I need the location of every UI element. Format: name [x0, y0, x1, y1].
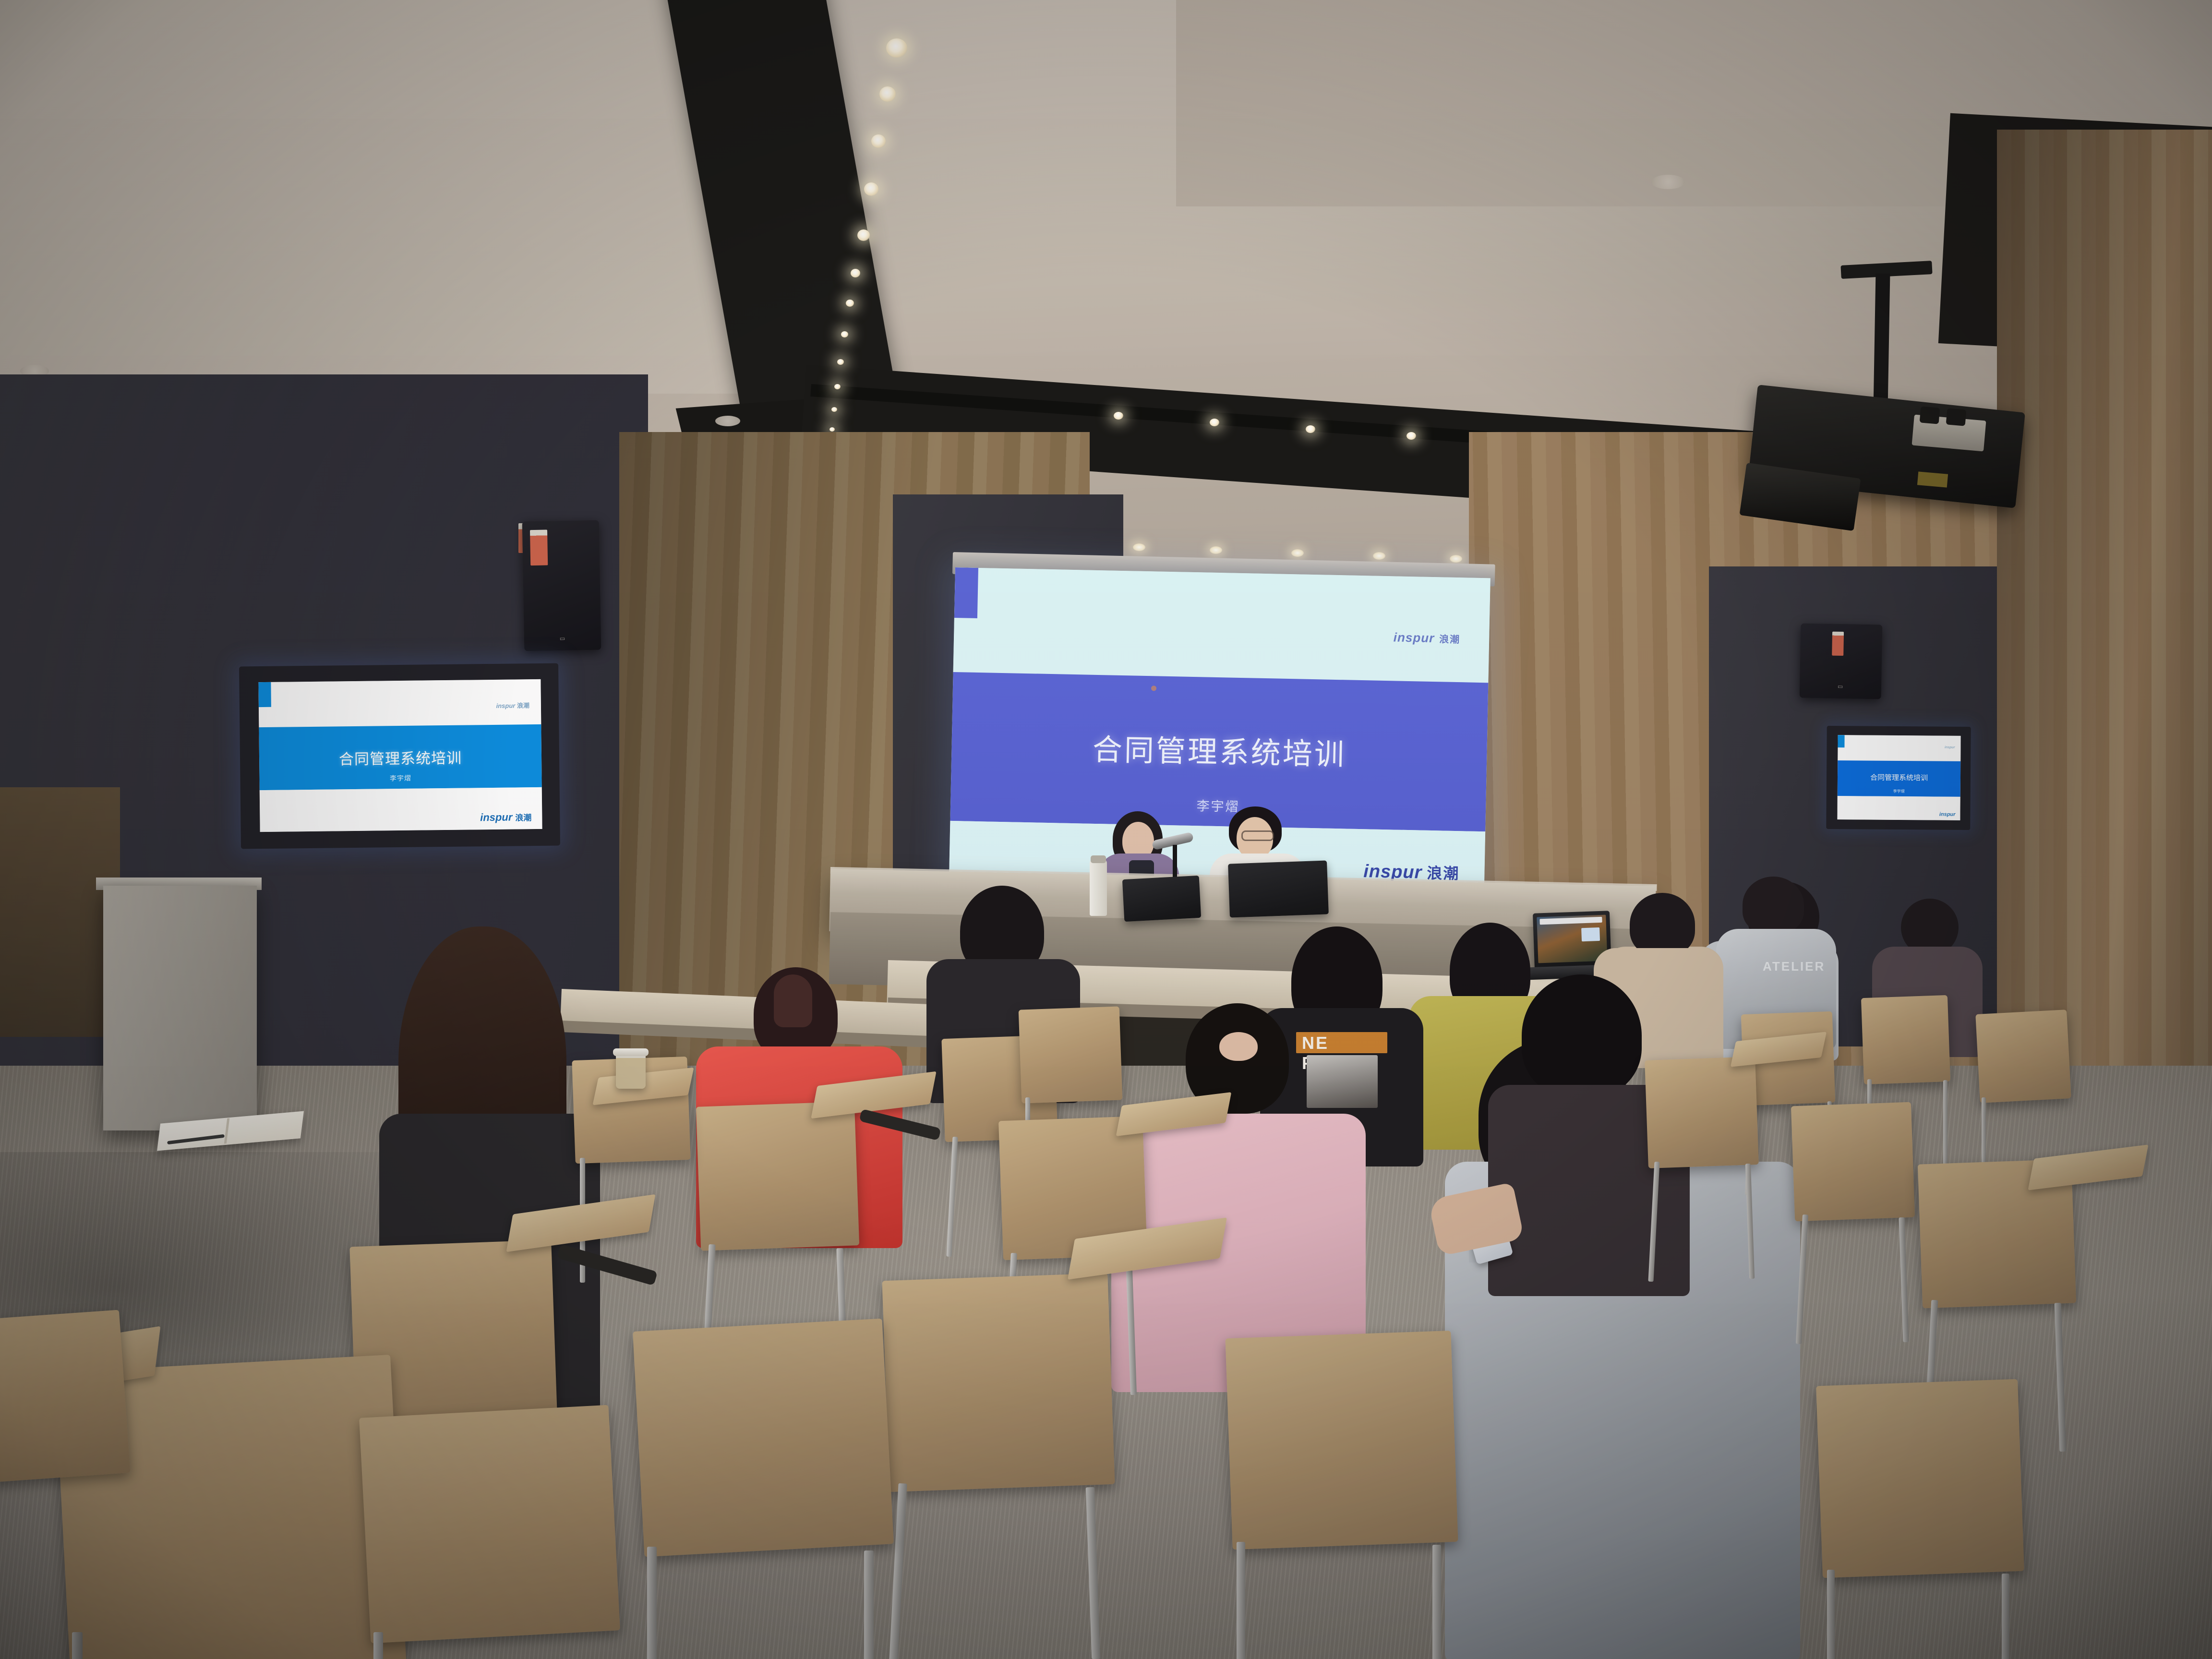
speaker-brand-text: ▭ — [560, 635, 566, 642]
presenter-laptop — [1122, 876, 1201, 922]
ceiling-spotlight — [1114, 412, 1123, 420]
slide-title: 合同管理系统培训 — [259, 745, 541, 769]
speaker-brand-text: ▭ — [1838, 683, 1844, 690]
ceiling-spotlight — [831, 407, 837, 412]
ceiling-fixture — [715, 416, 740, 426]
brand-logo-cn: 浪潮 — [517, 702, 529, 709]
slide-decor-dot — [1151, 685, 1156, 691]
slide-presenter-name: 李宇熠 — [1838, 788, 1960, 794]
main-projection-screen: inspur浪潮 合同管理系统培训 李宇熠 inspur浪潮 — [949, 567, 1491, 895]
brand-logo-latin: inspur — [480, 811, 512, 824]
left-wall-display: inspur 浪潮 合同管理系统培训 李宇熠 inspur浪潮 — [258, 679, 542, 832]
projector-knob — [1946, 408, 1967, 426]
ceiling-spotlight — [886, 38, 907, 58]
speaker-label — [530, 530, 548, 566]
ceiling-spotlight — [834, 384, 841, 389]
wall-speaker-left: ▭ — [522, 520, 601, 651]
brand-logo-bottom: inspur浪潮 — [480, 811, 532, 824]
laptop-dialog — [1581, 927, 1600, 941]
slide-accent-block — [258, 682, 271, 707]
brand-logo-latin: inspur — [496, 702, 515, 709]
ceiling-spotlight — [829, 427, 835, 432]
ceiling-spotlight — [1210, 419, 1219, 426]
wall-wood-lower-left — [0, 787, 120, 1037]
brand-logo-bottom: inspur — [1939, 812, 1956, 817]
brand-logo-latin: inspur — [1394, 630, 1435, 646]
training-room-photo: ▭ ▭ inspur浪潮 合同管理系统培训 李宇熠 inspur浪潮 — [0, 0, 2212, 1659]
slide-top-band — [953, 567, 1491, 683]
brand-logo-latin: inspur — [1939, 812, 1956, 817]
ceiling-spotlight — [864, 182, 878, 196]
coffee-cup — [616, 1051, 646, 1089]
wall-speaker-right: ▭ — [1800, 624, 1883, 699]
slide-top-band — [1838, 735, 1960, 761]
lectern — [103, 886, 257, 1130]
water-bottle — [1090, 859, 1107, 916]
brand-logo-cn: 浪潮 — [1439, 634, 1460, 645]
ceiling-spotlight — [846, 300, 854, 307]
water-bottle-cap — [1091, 855, 1106, 863]
brand-logo-latin: inspur — [1945, 746, 1955, 749]
laptop-screen — [1537, 915, 1607, 963]
ceiling-spotlight — [1407, 432, 1416, 440]
projector-knob — [1920, 406, 1940, 424]
projector-mount-pole — [1874, 274, 1890, 408]
brand-logo-top: inspur浪潮 — [1393, 630, 1460, 647]
ceiling-spotlight — [851, 269, 860, 277]
right-wall-display: inspur 合同管理系统培训 李宇熠 inspur — [1837, 735, 1960, 820]
ceiling-spotlight-screen — [1133, 543, 1145, 551]
ceiling-spotlight-screen — [1291, 549, 1304, 557]
ceiling-spotlight — [1306, 425, 1315, 433]
brand-logo-top: inspur 浪潮 — [496, 700, 529, 710]
slide-accent-block — [1838, 735, 1844, 747]
brand-logo-cn: 浪潮 — [515, 813, 531, 822]
speaker-label — [1832, 632, 1844, 656]
jacket-print-text: ATELIER — [1763, 959, 1825, 974]
ceiling-spotlight — [871, 134, 886, 148]
ceiling-spotlight — [837, 359, 844, 365]
ceiling-spotlight-screen — [1450, 555, 1462, 563]
tee-print-image — [1307, 1055, 1378, 1108]
coffee-cup-lid — [613, 1048, 649, 1056]
slide-accent-block — [954, 567, 978, 618]
projector-indicator — [1917, 471, 1948, 487]
ceiling-spotlight — [879, 86, 896, 102]
ceiling-spotlight-screen — [1210, 546, 1222, 554]
ceiling-spotlight — [857, 229, 870, 241]
brand-logo-top: inspur — [1945, 746, 1955, 749]
slide-title: 合同管理系统培训 — [1838, 772, 1960, 783]
laptop-titlebar — [1539, 917, 1602, 925]
ceiling-spotlight — [841, 331, 848, 337]
ceiling-fixture — [1651, 175, 1685, 189]
slide-bottom-band — [260, 787, 542, 832]
ceiling-spotlight-screen — [1373, 552, 1385, 560]
presenter-laptop — [1228, 860, 1329, 917]
